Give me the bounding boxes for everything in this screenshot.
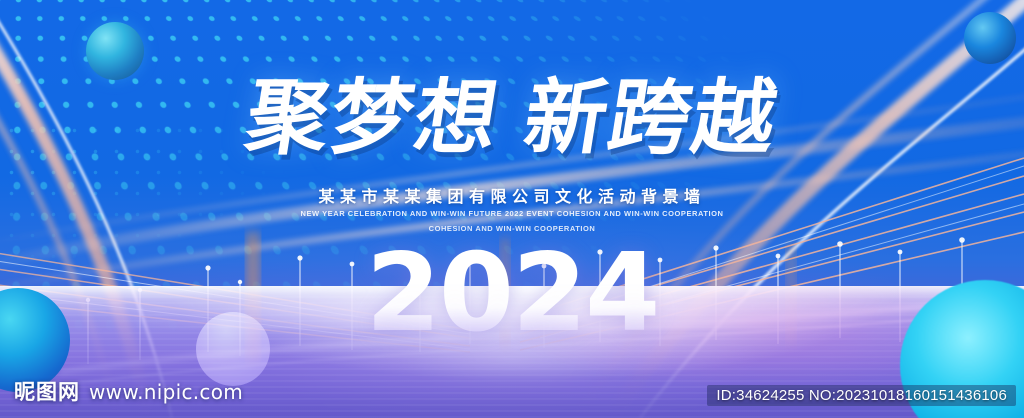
subtitle-english-line1: NEW YEAR CELEBRATION AND WIN-WIN FUTURE … xyxy=(0,209,1024,218)
subtitle-chinese: 某某市某某集团有限公司文化活动背景墙 xyxy=(0,183,1024,207)
sphere-top-right xyxy=(964,12,1016,64)
year-numeral: 2024 xyxy=(0,240,1024,348)
sphere-top-left xyxy=(86,22,144,80)
headline-part-2: 新跨越 xyxy=(518,71,785,166)
watermark-site-name: 昵图网 xyxy=(14,376,80,406)
poster-canvas: 聚梦想新跨越 某某市某某集团有限公司文化活动背景墙 NEW YEAR CELEB… xyxy=(0,0,1024,418)
watermark-site-url: www.nipic.com xyxy=(89,380,243,404)
watermark-left: 昵图网 www.nipic.com xyxy=(14,376,243,406)
headline-part-1: 聚梦想 xyxy=(240,71,507,166)
watermark-asset-id: ID:34624255 NO:20231018160151436106 xyxy=(707,385,1016,406)
headline: 聚梦想新跨越 xyxy=(0,78,1024,160)
